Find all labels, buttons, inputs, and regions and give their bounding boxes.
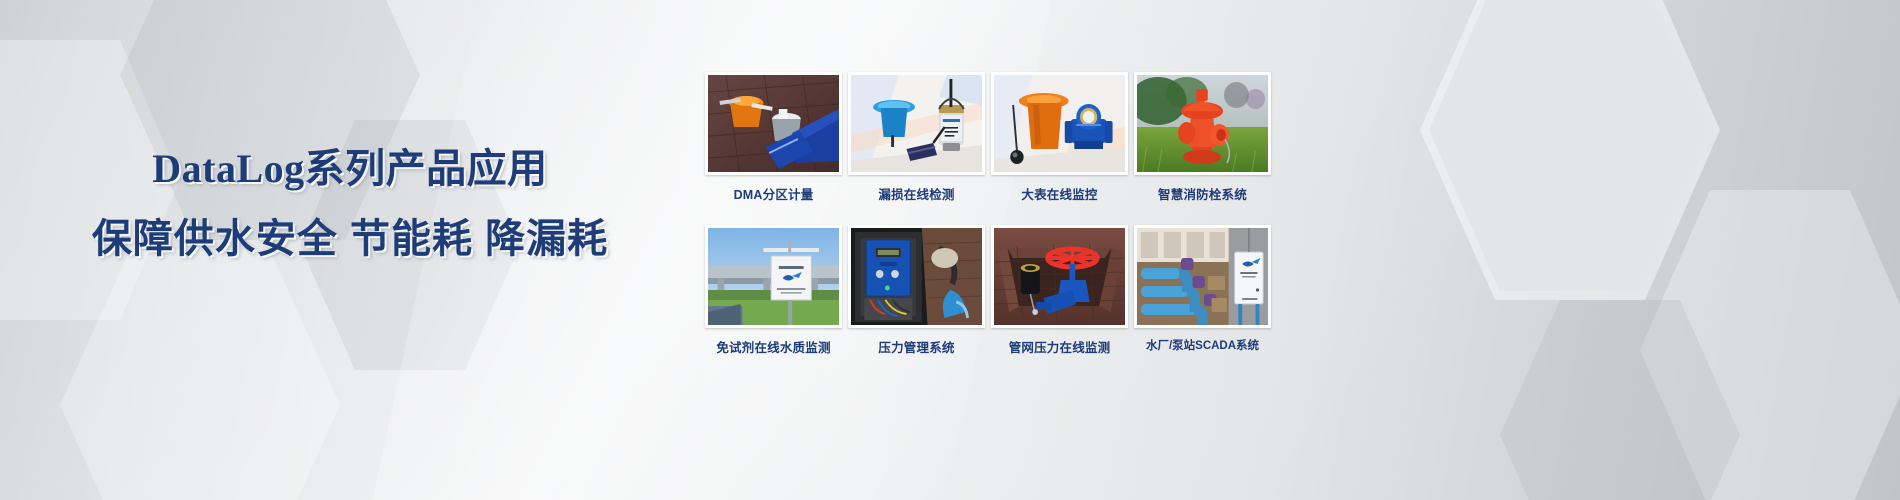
grid-item[interactable]: 智慧消防栓系统 — [1134, 72, 1271, 217]
dma-metering-photo — [708, 75, 839, 172]
thumbnail-frame[interactable] — [1134, 225, 1271, 328]
grid-item[interactable]: 漏损在线检测 — [848, 72, 985, 217]
grid-item-caption: DMA分区计量 — [734, 184, 814, 203]
water-quality-station-photo — [708, 228, 839, 325]
thumbnail-frame[interactable] — [991, 225, 1128, 328]
grid-item[interactable]: 大表在线监控 — [991, 72, 1128, 217]
headline-block: DataLog系列产品应用 保障供水安全 节能耗 降漏耗 — [0, 146, 700, 262]
thumbnail-frame[interactable] — [991, 72, 1128, 175]
grid-item-caption: 管网压力在线监测 — [1009, 337, 1111, 356]
grid-item-caption: 漏损在线检测 — [878, 184, 954, 203]
grid-item-caption: 水厂/泵站SCADA系统 — [1146, 337, 1259, 353]
smart-hydrant-photo — [1137, 75, 1268, 172]
thumbnail-frame[interactable] — [848, 72, 985, 175]
scada-pumpstation-photo — [1137, 228, 1268, 325]
product-application-grid: DMA分区计量 — [705, 72, 1285, 370]
promo-banner: DataLog系列产品应用 保障供水安全 节能耗 降漏耗 — [0, 0, 1900, 500]
grid-item[interactable]: 压力管理系统 — [848, 225, 985, 370]
headline-line-2: 保障供水安全 节能耗 降漏耗 — [0, 216, 700, 262]
grid-item[interactable]: 免试剂在线水质监测 — [705, 225, 842, 370]
thumbnail-frame[interactable] — [705, 225, 842, 328]
headline-line-1: DataLog系列产品应用 — [0, 146, 700, 192]
grid-item[interactable]: DMA分区计量 — [705, 72, 842, 217]
thumbnail-frame[interactable] — [705, 72, 842, 175]
grid-item-caption: 免试剂在线水质监测 — [716, 337, 830, 356]
grid-item[interactable]: 水厂/泵站SCADA系统 — [1134, 225, 1271, 370]
pipe-pressure-photo — [994, 228, 1125, 325]
thumbnail-frame[interactable] — [848, 225, 985, 328]
grid-item-caption: 智慧消防栓系统 — [1158, 184, 1247, 203]
grid-item-caption: 压力管理系统 — [878, 337, 954, 356]
leak-detection-photo — [851, 75, 982, 172]
pressure-management-photo — [851, 228, 982, 325]
grid-item[interactable]: 管网压力在线监测 — [991, 225, 1128, 370]
large-meter-photo — [994, 75, 1125, 172]
grid-item-caption: 大表在线监控 — [1021, 184, 1097, 203]
thumbnail-frame[interactable] — [1134, 72, 1271, 175]
